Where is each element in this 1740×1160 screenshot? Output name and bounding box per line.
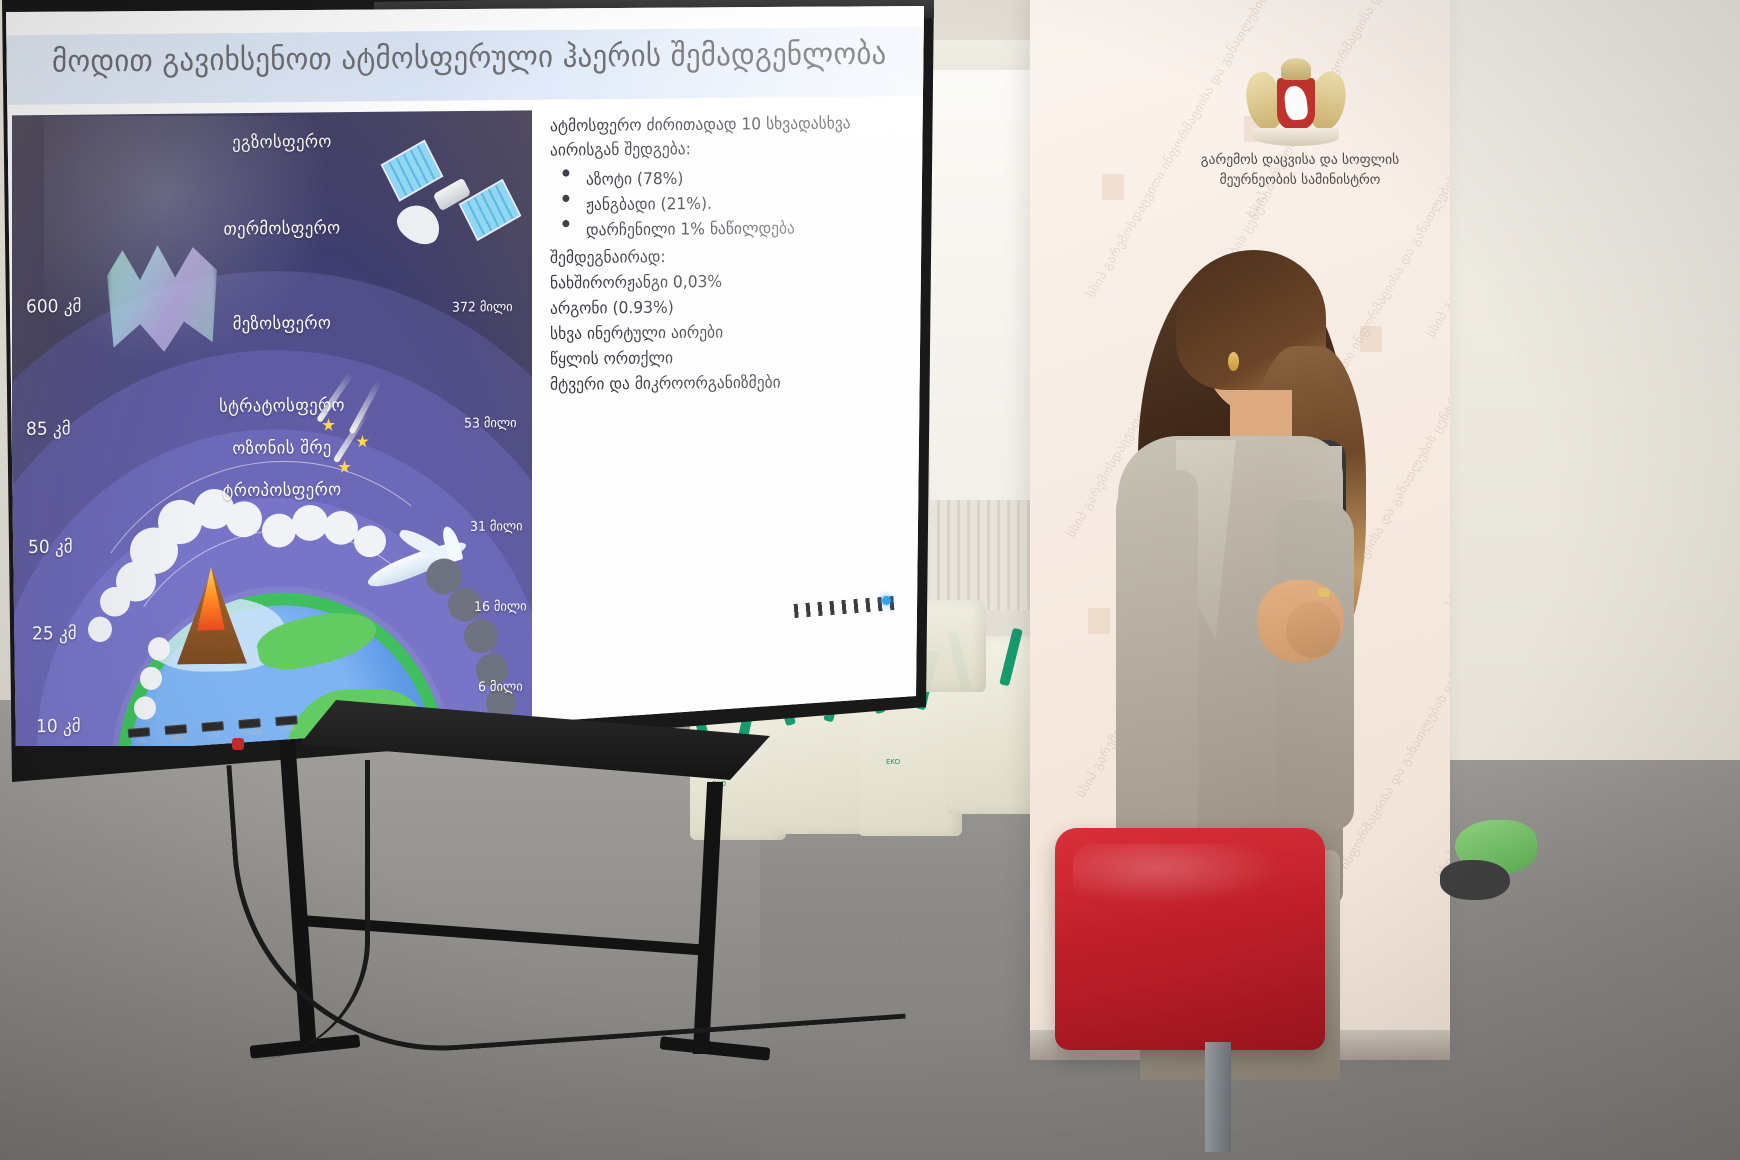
altitude-600km: 600 კმ — [26, 296, 81, 318]
earring — [1228, 352, 1239, 371]
georgia-coat-of-arms-icon — [1245, 58, 1345, 162]
layer-label-ozone-layer: ოზონის შრე — [172, 437, 392, 459]
port-label: USB — [202, 732, 226, 740]
layer-label-exosphere: ეგზოსფერო — [172, 131, 392, 153]
port-hdmi[interactable]: HDMI — [275, 715, 300, 734]
continuation-line: მტვერი და მიკროორგანიზმები — [550, 369, 922, 398]
usb-icon — [164, 724, 187, 735]
port-usb-1[interactable]: USB — [128, 727, 153, 746]
altitude-50km: 50 კმ — [28, 537, 73, 559]
arm-left — [1116, 470, 1198, 870]
hdmi-icon — [275, 715, 298, 726]
screenshot-root: EKO EKO სსიპ გარემოსდაცვითი ინფორმაციისა… — [0, 0, 1740, 1160]
power-led-indicator — [882, 596, 891, 605]
continuation-line: ნახშირორჟანგი 0,03% — [550, 267, 922, 296]
floor-object-dark — [1440, 860, 1510, 900]
port-usb-2[interactable]: USB — [164, 724, 189, 743]
atmosphere-diagram: ეგზოსფერო თერმოსფერო მეზოსფერო სტრატოსფე… — [12, 110, 532, 746]
altitude-31-miles: 31 მილი — [470, 518, 523, 534]
usb-icon — [128, 727, 151, 738]
list-item: აზოტი (78%) — [550, 164, 922, 193]
banner-ministry-name: გარემოს დაცვისა და სოფლის მეურნეობის სამ… — [1170, 150, 1430, 191]
continuation-line: შემდეგნაირად: — [550, 242, 922, 271]
cable-connector — [232, 738, 244, 750]
port-row[interactable]: USB USB USB TOUCH HDMI — [128, 715, 301, 746]
port-label: TOUCH — [239, 729, 263, 737]
layer-label-thermosphere: თერმოსფერო — [172, 217, 392, 239]
continuation-line: არგონი (0.93%) — [550, 293, 922, 322]
arm-right — [1276, 500, 1354, 830]
altitude-85km: 85 კმ — [26, 419, 71, 441]
layer-label-stratosphere: სტრატოსფერო — [172, 394, 392, 416]
slide-continuation: შემდეგნაირად: ნახშირორჟანგი 0,03% არგონი… — [550, 242, 922, 398]
chair-post — [1205, 1042, 1231, 1152]
interactive-display[interactable]: მოდით გავიხსენოთ ატმოსფერული ჰაერის შემა… — [0, 0, 944, 792]
altitude-53-miles: 53 მილი — [464, 414, 517, 430]
list-item: ჟანგბადი (21%). — [550, 189, 922, 218]
continuation-line: წყლის ორთქლი — [550, 343, 922, 372]
port-label: HDMI — [276, 726, 300, 734]
slide-text-panel: ატმოსფერო ძირითადად 10 სხვადასხვა აირისგ… — [550, 111, 922, 568]
layer-label-troposphere: ტროპოსფერო — [172, 479, 392, 501]
wall-right — [1430, 0, 1740, 830]
port-label: USB — [165, 735, 189, 743]
touch-port-icon — [238, 718, 261, 729]
chair-backrest — [1055, 828, 1325, 1050]
altitude-25km: 25 კმ — [32, 623, 77, 645]
list-item: დარჩენილი 1% ნაწილდება — [550, 215, 922, 244]
altitude-16-miles: 16 მილი — [474, 598, 527, 614]
ministry-line-1: გარემოს დაცვისა და სოფლის — [1170, 150, 1430, 170]
port-label: USB — [128, 738, 152, 746]
altitude-6-miles: 6 მილი — [478, 678, 523, 694]
display-screen[interactable]: მოდით გავიხსენოთ ატმოსფერული ჰაერის შემა… — [4, 6, 924, 746]
ring — [1318, 588, 1330, 597]
slide-lead-text: ატმოსფერო ძირითადად 10 სხვადასხვა აირისგ… — [550, 111, 922, 162]
continuation-line: სხვა ინერტული აირები — [550, 318, 922, 347]
usb-icon — [201, 721, 224, 732]
altitude-372-miles: 372 მილი — [452, 298, 513, 314]
slide-bullet-list: აზოტი (78%) ჟანგბადი (21%). დარჩენილი 1%… — [550, 164, 922, 244]
satellite-icon — [387, 142, 517, 259]
ministry-line-2: მეურნეობის სამინისტრო — [1170, 170, 1430, 190]
port-touch[interactable]: TOUCH — [238, 718, 263, 737]
red-chair — [1055, 828, 1325, 1160]
layer-label-mesosphere: მეზოსფერო — [172, 312, 392, 334]
chair-highlight — [1073, 844, 1283, 904]
presentation-slide: მოდით გავიხსენოთ ატმოსფერული ჰაერის შემა… — [4, 6, 924, 746]
hand-second — [1286, 602, 1340, 658]
port-usb-3[interactable]: USB — [201, 721, 226, 740]
